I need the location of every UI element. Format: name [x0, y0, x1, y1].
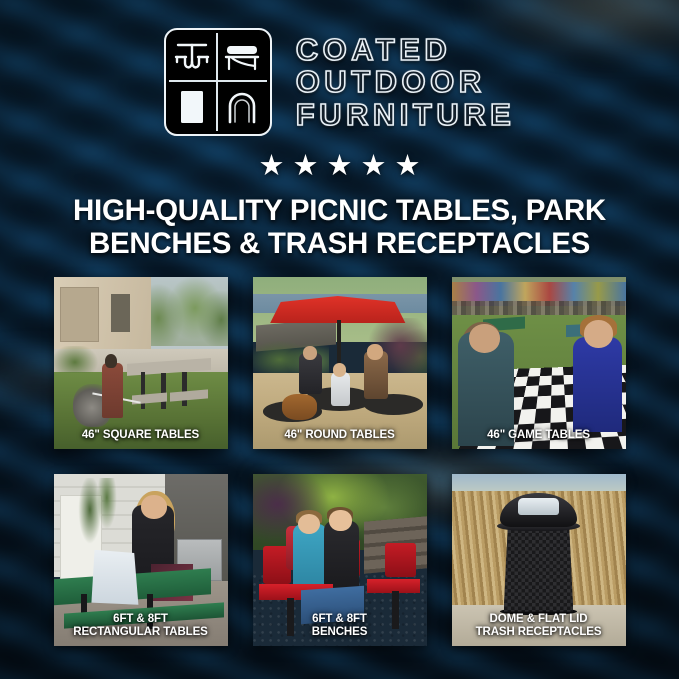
- star-icon-3: ★: [327, 152, 353, 181]
- brand-logo: COATED OUTDOOR FURNITURE: [164, 26, 516, 138]
- wordmark-line-3: FURNITURE: [296, 99, 516, 131]
- product-grid: 46" SQUARE TABLES: [54, 277, 626, 646]
- headline-line-1: HIGH-QUALITY PICNIC TABLES, PARK: [30, 194, 650, 227]
- scene-square-tables: [54, 277, 228, 449]
- product-caption-rectangular-tables: 6FT & 8FT RECTANGULAR TABLES: [54, 613, 228, 639]
- product-caption-trash-receptacles: DOME & FLAT LID TRASH RECEPTACLES: [452, 613, 626, 639]
- headline-line-2: BENCHES & TRASH RECEPTACLES: [30, 227, 650, 260]
- bench-icon: [218, 33, 267, 82]
- promotional-poster: COATED OUTDOOR FURNITURE ★ ★ ★ ★ ★ HIGH-…: [0, 0, 679, 679]
- product-tile-benches[interactable]: 6FT & 8FT BENCHES: [253, 474, 427, 646]
- product-caption-round-tables: 46" ROUND TABLES: [253, 429, 427, 442]
- arch-bollard-icon: [218, 82, 267, 131]
- scene-game-tables: [452, 277, 626, 449]
- product-tile-rectangular-tables[interactable]: 6FT & 8FT RECTANGULAR TABLES: [54, 474, 228, 646]
- star-icon-5: ★: [395, 152, 421, 181]
- picnic-table-icon: [169, 33, 218, 82]
- product-tile-round-tables[interactable]: 46" ROUND TABLES: [253, 277, 427, 449]
- product-caption-square-tables: 46" SQUARE TABLES: [54, 429, 228, 442]
- brand-wordmark: COATED OUTDOOR FURNITURE: [296, 34, 516, 131]
- product-caption-benches: 6FT & 8FT BENCHES: [253, 613, 427, 639]
- logo-icon-grid: [164, 28, 272, 136]
- trash-receptacle-icon: [169, 82, 218, 131]
- product-caption-game-tables: 46" GAME TABLES: [452, 429, 626, 442]
- wordmark-line-2: OUTDOOR: [296, 66, 516, 98]
- wordmark-line-1: COATED: [296, 34, 516, 66]
- headline: HIGH-QUALITY PICNIC TABLES, PARK BENCHES…: [30, 194, 650, 260]
- star-icon-4: ★: [361, 152, 387, 181]
- scene-round-tables: [253, 277, 427, 449]
- star-icon-1: ★: [259, 152, 285, 181]
- product-tile-square-tables[interactable]: 46" SQUARE TABLES: [54, 277, 228, 449]
- product-tile-game-tables[interactable]: 46" GAME TABLES: [452, 277, 626, 449]
- star-icon-2: ★: [293, 152, 319, 181]
- star-rating: ★ ★ ★ ★ ★: [259, 152, 421, 181]
- product-tile-trash-receptacles[interactable]: DOME & FLAT LID TRASH RECEPTACLES: [452, 474, 626, 646]
